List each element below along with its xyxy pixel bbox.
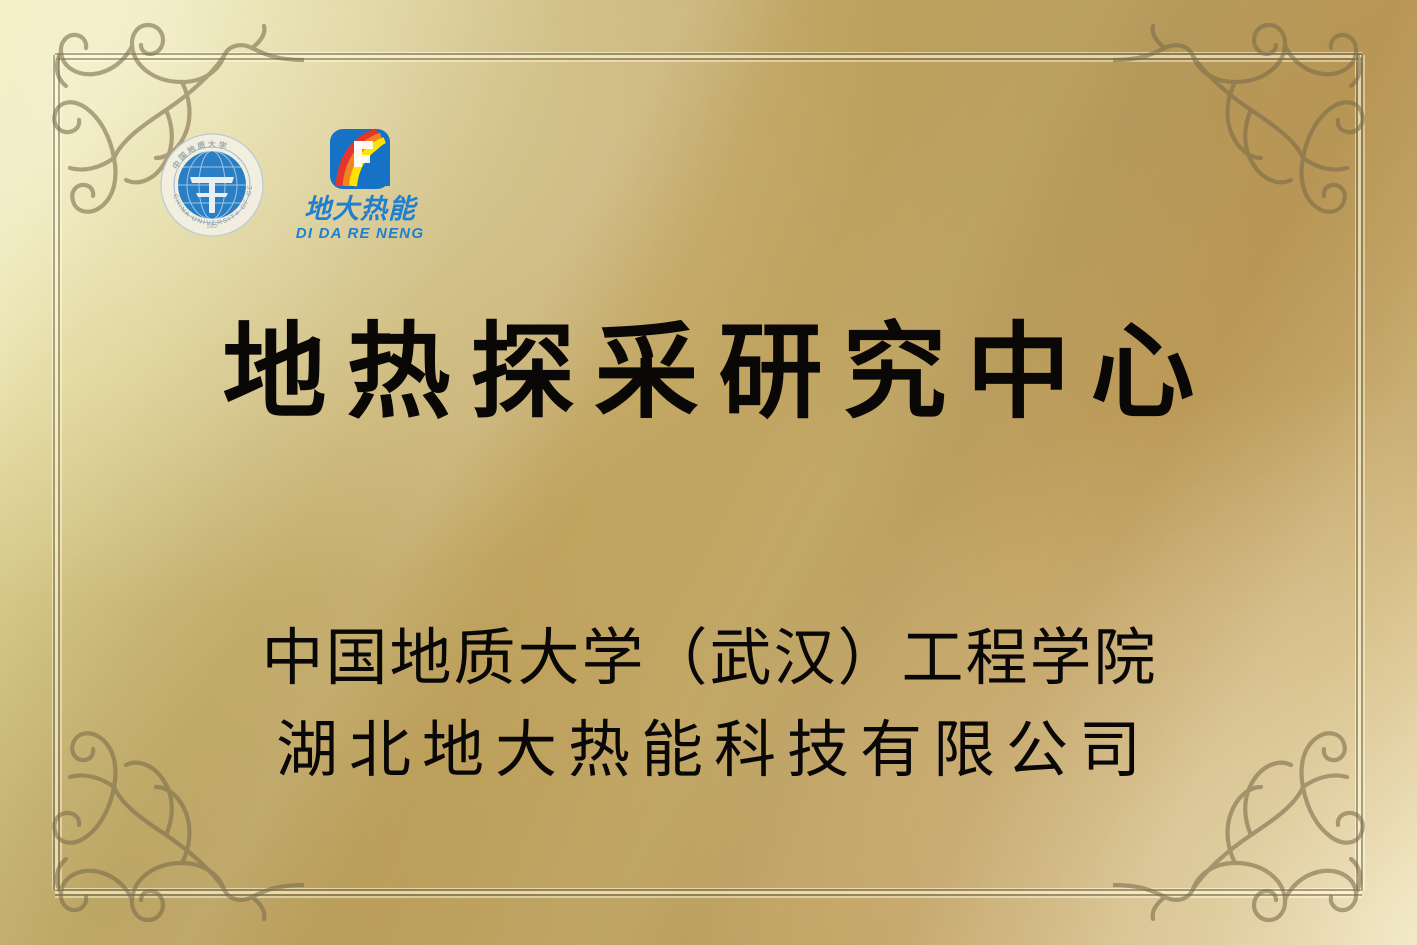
didareneng-mark-icon xyxy=(329,128,391,190)
didareneng-logo: 地大热能 DI DA RE NENG xyxy=(290,128,430,241)
didareneng-cn-text: 地大热能 xyxy=(290,191,430,225)
cug-logo-icon: CHINA UNIVERSITY OF GEOSCIENCES 中国地质大学 1… xyxy=(160,133,264,237)
organization-block: 中国地质大学（武汉）工程学院 湖北地大热能科技有限公司 xyxy=(0,612,1417,796)
svg-text:1952: 1952 xyxy=(206,224,217,230)
organization-line: 湖北地大热能科技有限公司 xyxy=(0,704,1417,796)
organization-line: 中国地质大学（武汉）工程学院 xyxy=(0,612,1417,704)
flourish-corner-icon xyxy=(1113,8,1403,223)
logo-row: CHINA UNIVERSITY OF GEOSCIENCES 中国地质大学 1… xyxy=(160,128,430,241)
page-title: 地热探采研究中心 xyxy=(0,318,1417,427)
award-plaque: CHINA UNIVERSITY OF GEOSCIENCES 中国地质大学 1… xyxy=(0,0,1417,945)
didareneng-en-text: DI DA RE NENG xyxy=(296,226,424,241)
svg-text:地大热能: 地大热能 xyxy=(304,194,419,225)
